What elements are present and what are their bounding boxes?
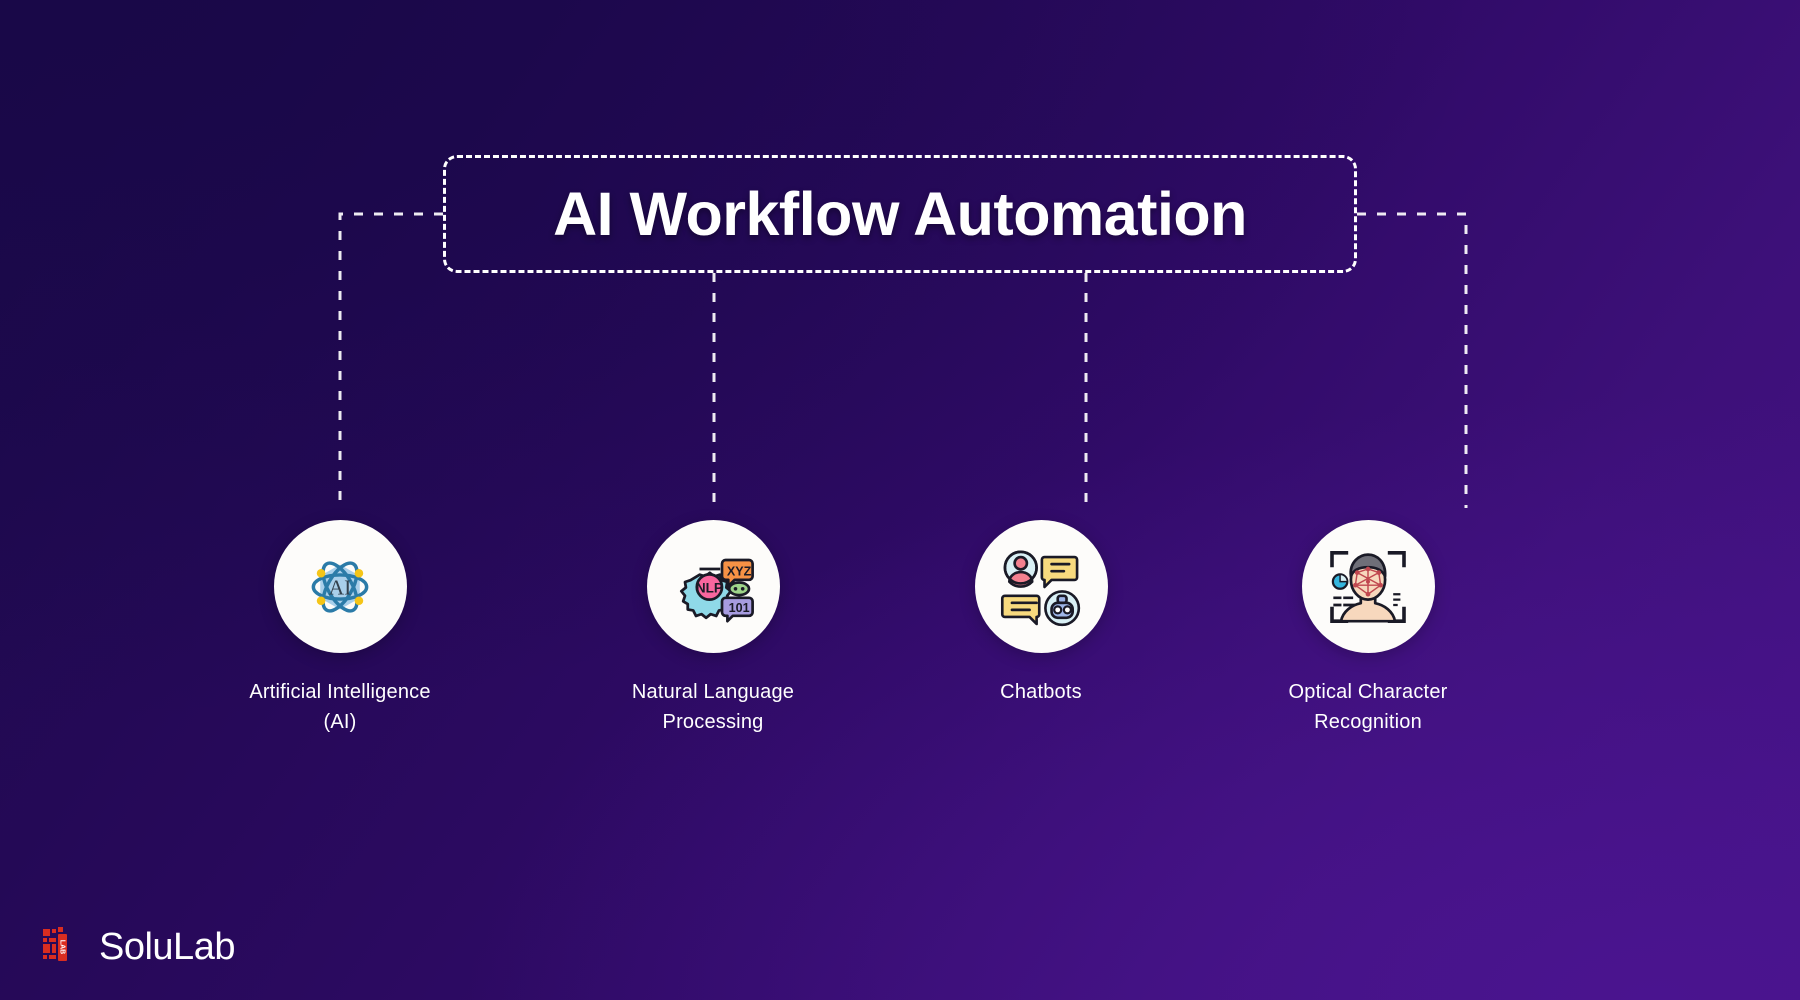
- nlp-icon-label: NLP: [696, 580, 723, 595]
- node-natural-language-processing[interactable]: NLP XYZ 101 Natural Language Processing: [573, 520, 853, 737]
- connector-to-artificial-intelligence: [340, 214, 443, 508]
- node-optical-character-recognition[interactable]: Optical Character Recognition: [1228, 520, 1508, 737]
- node-label-optical-character-recognition: Optical Character Recognition: [1228, 677, 1508, 737]
- connector-to-optical-character-recognition: [1357, 214, 1466, 508]
- page-title: AI Workflow Automation: [553, 179, 1247, 249]
- node-label-natural-language-processing: Natural Language Processing: [573, 677, 853, 737]
- binary-icon-label: 101: [729, 601, 750, 615]
- main-title-box: AI Workflow Automation: [443, 155, 1357, 273]
- logo-mark-text: LAB: [59, 940, 66, 954]
- node-artificial-intelligence[interactable]: AI Artificial Intelligence (AI): [200, 520, 480, 737]
- node-chatbots[interactable]: Chatbots: [901, 520, 1181, 707]
- node-label-chatbots: Chatbots: [901, 677, 1181, 707]
- solulab-logo-text: SoluLab: [99, 926, 235, 969]
- ai-icon-label: AI: [329, 575, 352, 599]
- connector-lines: [0, 0, 1800, 1000]
- icon-bubble-optical-character-recognition: [1302, 520, 1435, 653]
- chatbot-icon: [997, 543, 1085, 631]
- solulab-logo[interactable]: LAB SoluLab: [43, 925, 235, 969]
- ocr-face-scan-icon: [1323, 542, 1413, 632]
- nlp-gear-icon: NLP XYZ 101: [668, 542, 758, 632]
- xyz-icon-label: XYZ: [727, 564, 752, 578]
- node-label-artificial-intelligence: Artificial Intelligence (AI): [200, 677, 480, 737]
- solulab-logo-mark: LAB: [43, 925, 85, 969]
- icon-bubble-artificial-intelligence: AI: [274, 520, 407, 653]
- icon-bubble-natural-language-processing: NLP XYZ 101: [647, 520, 780, 653]
- ai-atom-icon: AI: [297, 544, 383, 630]
- slide-background: AI Workflow Automation AI Artificial Int…: [0, 0, 1800, 1000]
- icon-bubble-chatbots: [975, 520, 1108, 653]
